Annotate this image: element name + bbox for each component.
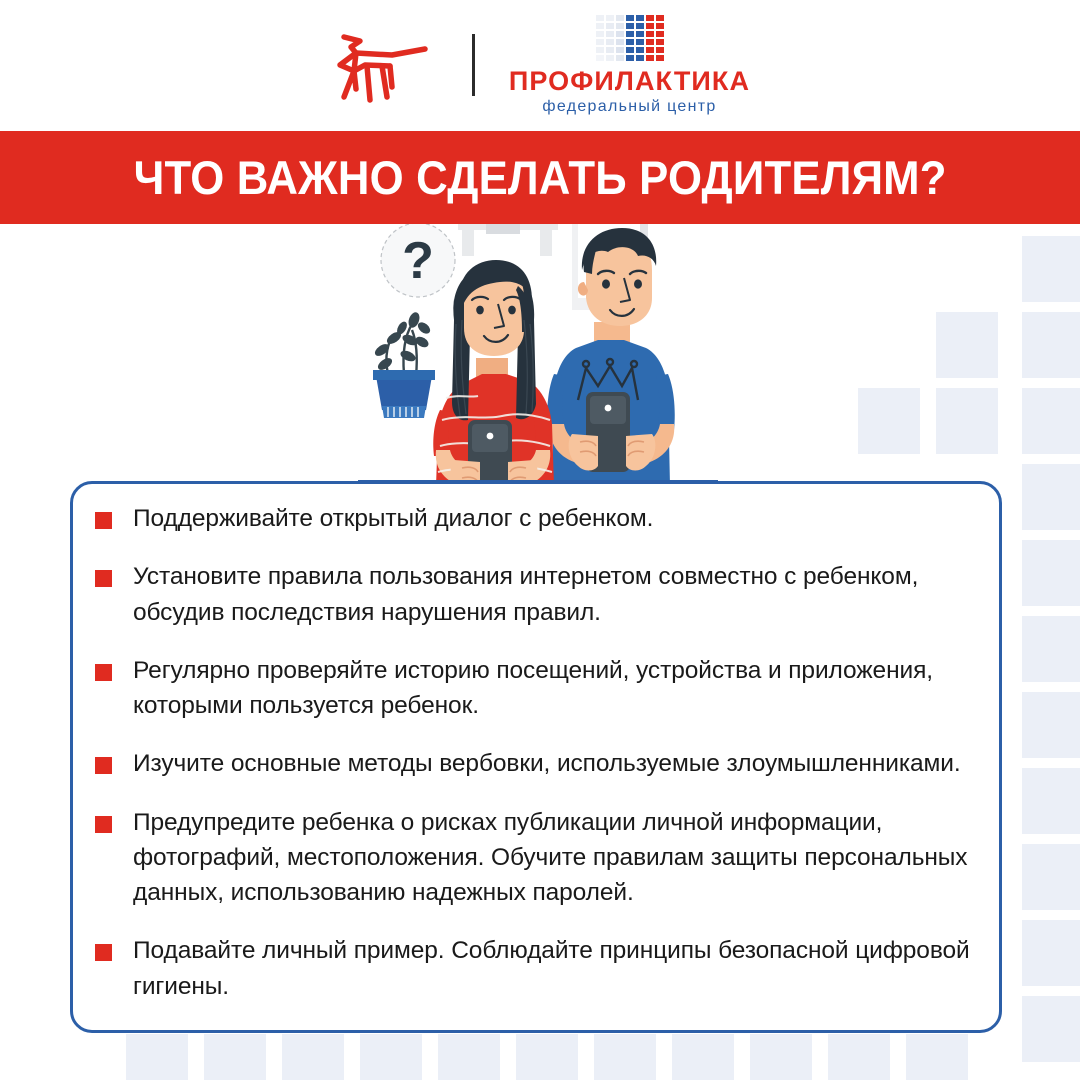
bg-square xyxy=(360,1034,422,1080)
bg-square xyxy=(1022,236,1080,302)
list-item-text: Изучите основные методы вербовки, исполь… xyxy=(133,746,961,781)
bg-square xyxy=(438,1034,500,1080)
bullet-square-icon xyxy=(95,512,112,529)
list-item: Изучите основные методы вербовки, исполь… xyxy=(95,746,975,781)
bullet-square-icon xyxy=(95,570,112,587)
bg-square xyxy=(1022,768,1080,834)
bg-square xyxy=(750,1034,812,1080)
parents-with-smartphones-illustration: ? xyxy=(358,224,718,486)
list-item-text: Предупредите ребенка о рисках публикации… xyxy=(133,805,975,911)
deer-line-mark-icon xyxy=(330,25,438,105)
bg-square xyxy=(1022,540,1080,606)
bullet-square-icon xyxy=(95,664,112,681)
list-item: Предупредите ребенка о рисках публикации… xyxy=(95,805,975,911)
potted-plant-icon xyxy=(373,311,435,418)
bg-square xyxy=(906,1034,968,1080)
woman-figure xyxy=(433,260,554,486)
thought-bubble-icon: ? xyxy=(381,224,464,307)
bg-square xyxy=(1022,692,1080,758)
brand-name: ПРОФИЛАКТИКА xyxy=(509,68,750,95)
bullet-square-icon xyxy=(95,757,112,774)
bg-square xyxy=(1022,616,1080,682)
bg-square xyxy=(204,1034,266,1080)
logo-divider xyxy=(472,34,475,96)
list-item: Поддерживайте открытый диалог с ребенком… xyxy=(95,501,975,536)
bg-square xyxy=(1022,844,1080,910)
list-item-text: Регулярно проверяйте историю посещений, … xyxy=(133,653,975,724)
list-item-text: Подавайте личный пример. Соблюдайте прин… xyxy=(133,933,975,1004)
bg-square xyxy=(828,1034,890,1080)
bg-square xyxy=(1022,388,1080,454)
list-item: Подавайте личный пример. Соблюдайте прин… xyxy=(95,933,975,1004)
list-item: Установите правила пользования интернето… xyxy=(95,559,975,630)
bg-square xyxy=(282,1034,344,1080)
bg-square xyxy=(1022,312,1080,378)
header: ПРОФИЛАКТИКА федеральный центр xyxy=(0,0,1080,130)
bg-square xyxy=(672,1034,734,1080)
list-item: Регулярно проверяйте историю посещений, … xyxy=(95,653,975,724)
bg-square xyxy=(936,388,998,454)
infographic-page: ПРОФИЛАКТИКА федеральный центр ЧТО ВАЖНО… xyxy=(0,0,1080,1080)
bg-square xyxy=(858,388,920,454)
bg-square xyxy=(126,1034,188,1080)
bg-square xyxy=(936,312,998,378)
bg-square xyxy=(1022,996,1080,1062)
title-banner: ЧТО ВАЖНО СДЕЛАТЬ РОДИТЕЛЯМ? xyxy=(0,131,1080,224)
bullet-square-icon xyxy=(95,816,112,833)
bg-square xyxy=(1022,920,1080,986)
list-item-text: Установите правила пользования интернето… xyxy=(133,559,975,630)
svg-text:?: ? xyxy=(402,232,434,290)
flag-grid-icon xyxy=(596,15,664,61)
brand-block: ПРОФИЛАКТИКА федеральный центр xyxy=(509,15,750,115)
brand-subtitle: федеральный центр xyxy=(542,99,716,115)
advice-card: Поддерживайте открытый диалог с ребенком… xyxy=(70,481,1002,1033)
bg-square xyxy=(594,1034,656,1080)
page-title: ЧТО ВАЖНО СДЕЛАТЬ РОДИТЕЛЯМ? xyxy=(133,150,946,205)
bullet-square-icon xyxy=(95,944,112,961)
advice-list: Поддерживайте открытый диалог с ребенком… xyxy=(95,501,975,1004)
list-item-text: Поддерживайте открытый диалог с ребенком… xyxy=(133,501,653,536)
logo-row: ПРОФИЛАКТИКА федеральный центр xyxy=(330,15,750,115)
man-figure xyxy=(547,228,675,486)
bg-square xyxy=(516,1034,578,1080)
bg-square xyxy=(1022,464,1080,530)
